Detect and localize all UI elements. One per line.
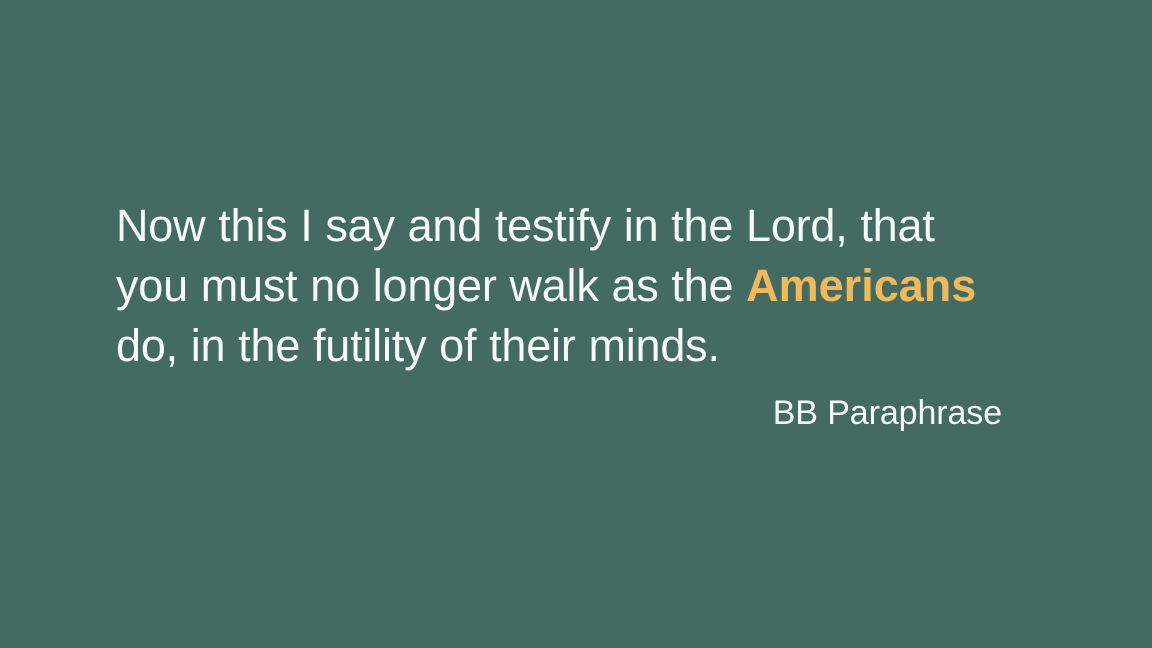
quote-attribution: BB Paraphrase: [116, 376, 1002, 434]
emphasized-word: Americans: [746, 260, 976, 311]
quote-line-2-text: you must no longer walk as the: [116, 260, 746, 311]
quote-line-1-text: Now this I say and testify in the Lord, …: [116, 200, 935, 251]
quote-slide: Now this I say and testify in the Lord, …: [0, 0, 1152, 648]
quote-text: Now this I say and testify in the Lord, …: [116, 196, 1002, 376]
quote-line-1: Now this I say and testify in the Lord, …: [116, 196, 1002, 256]
quote-line-3-text: do, in the futility of their minds.: [116, 320, 720, 371]
quote-line-3: do, in the futility of their minds.: [116, 316, 1002, 376]
quote-line-2: you must no longer walk as the Americans: [116, 256, 1002, 316]
quote-block: Now this I say and testify in the Lord, …: [116, 196, 1002, 434]
